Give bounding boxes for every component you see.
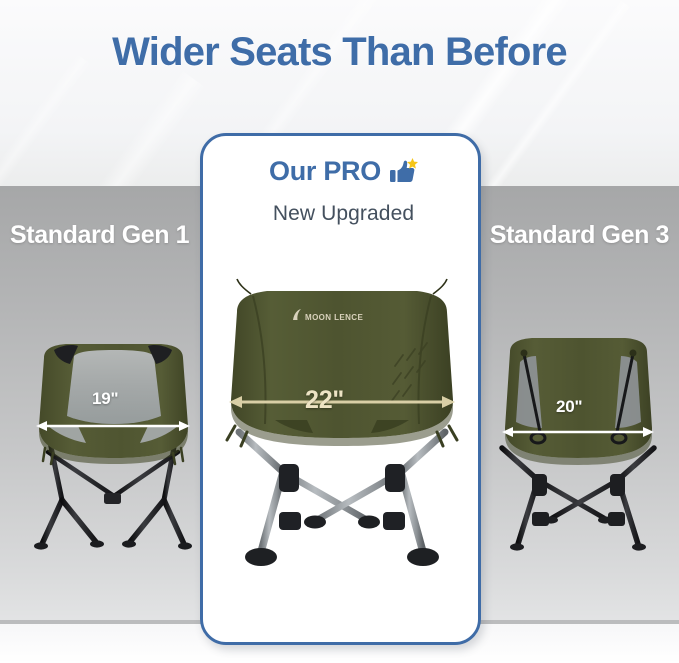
pro-card-title: Our PRO bbox=[269, 156, 381, 187]
moon-lence-logo-icon bbox=[291, 308, 305, 322]
chair-standard-gen-3 bbox=[486, 328, 671, 570]
infographic-root: Wider Seats Than Before Standard Gen 1 bbox=[0, 0, 679, 663]
brand-logo-text: MOON LENCE bbox=[305, 313, 363, 322]
chair-our-pro bbox=[217, 274, 467, 594]
left-panel-label: Standard Gen 1 bbox=[10, 221, 189, 250]
right-dimension-label: 20" bbox=[556, 397, 582, 417]
left-dimension-label: 19" bbox=[92, 389, 118, 409]
pro-card-subtitle: New Upgraded bbox=[203, 202, 484, 226]
pro-dimension-label: 22" bbox=[305, 386, 344, 415]
pro-highlight-card: Our PRO New Upgraded bbox=[200, 133, 481, 645]
pro-card-header: Our PRO bbox=[203, 156, 484, 187]
right-panel-label: Standard Gen 3 bbox=[490, 221, 669, 250]
star-icon bbox=[407, 158, 418, 169]
chair-standard-gen-1 bbox=[18, 330, 208, 570]
thumbs-up-icon bbox=[388, 157, 418, 187]
page-title: Wider Seats Than Before bbox=[0, 30, 679, 75]
